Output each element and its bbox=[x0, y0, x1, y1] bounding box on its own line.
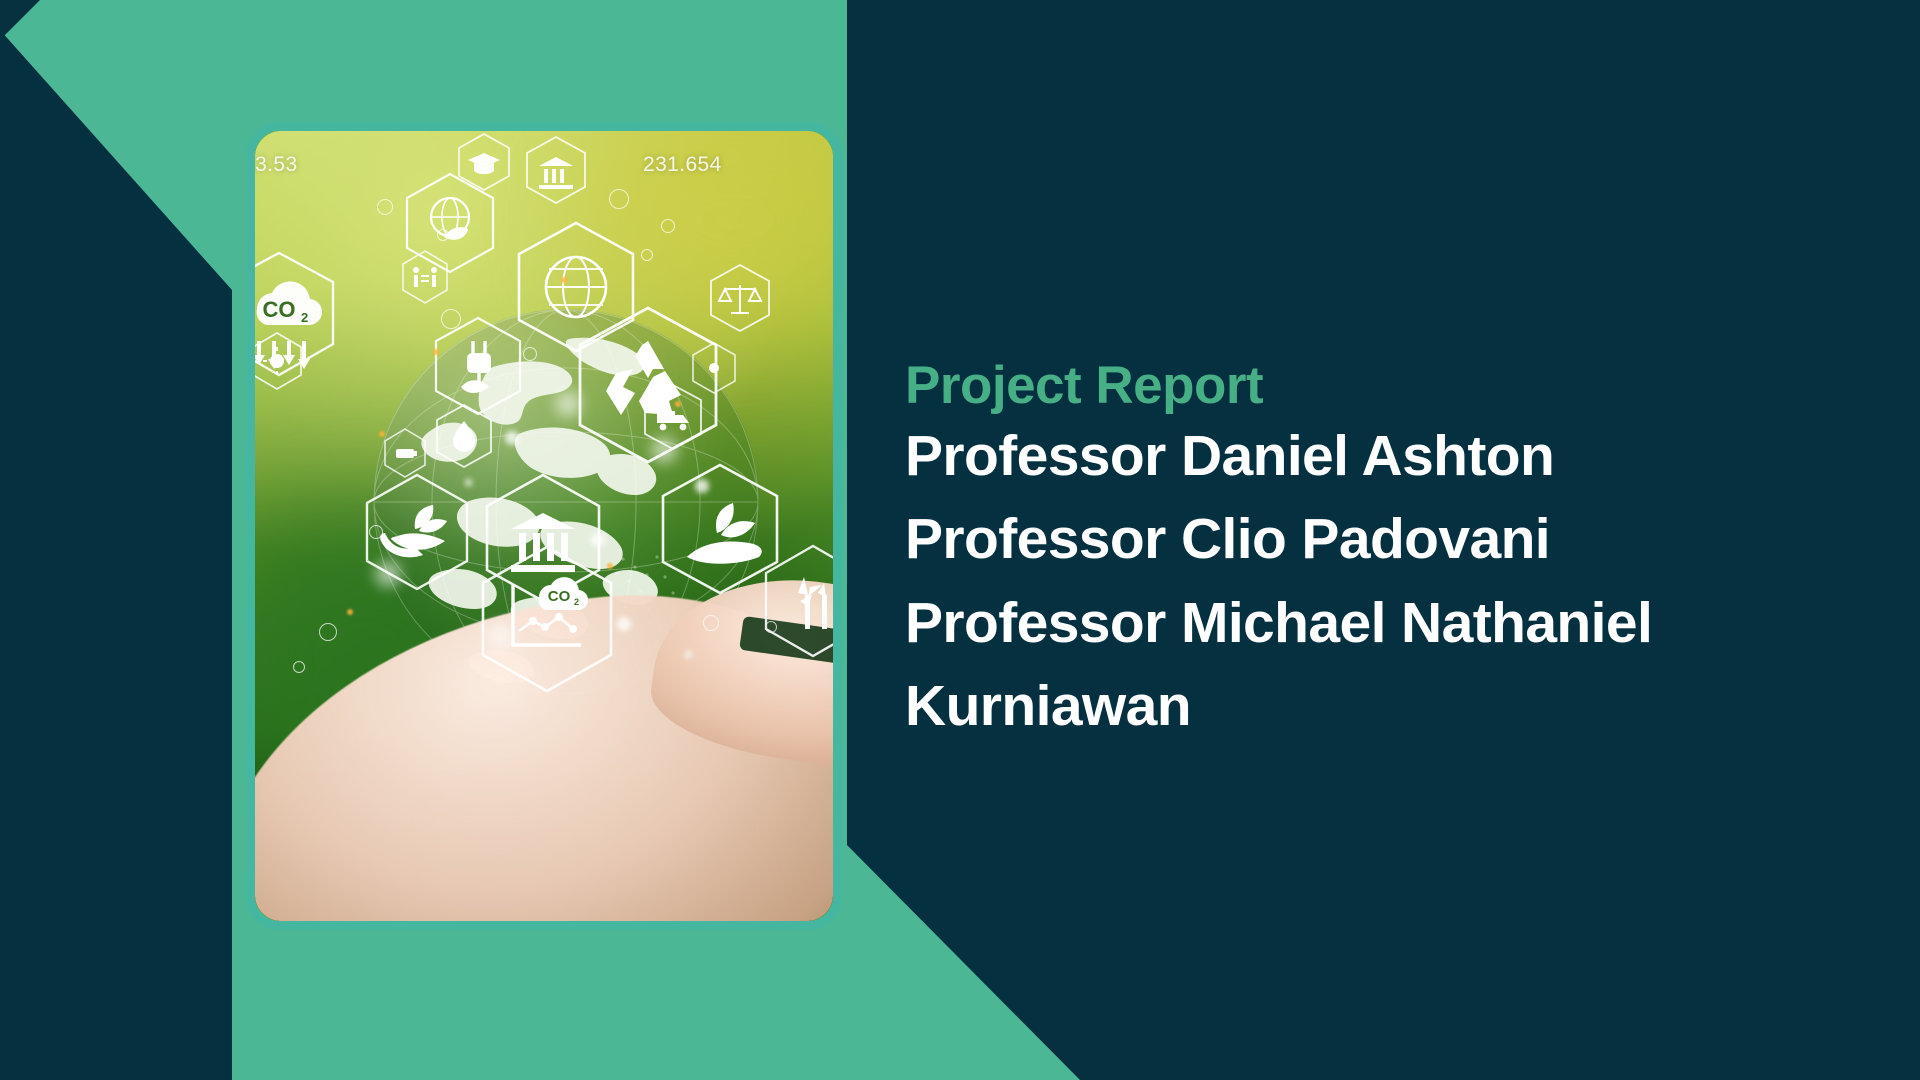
hero-image: CO 2 bbox=[255, 131, 833, 921]
light-flare bbox=[591, 533, 605, 547]
amber-dot bbox=[675, 401, 681, 407]
decor-ring bbox=[319, 623, 337, 641]
slide-canvas: CO 2 bbox=[0, 0, 1920, 1080]
photo-readout-right: 231.654 bbox=[643, 153, 722, 177]
sun-icon-small bbox=[689, 341, 739, 397]
decor-ring bbox=[437, 229, 449, 241]
light-flare bbox=[505, 431, 519, 445]
water-drop-icon bbox=[433, 403, 495, 471]
decor-ring bbox=[641, 249, 653, 261]
light-flare bbox=[695, 479, 709, 493]
author-name-1: Professor Daniel Ashton bbox=[905, 415, 1835, 498]
people-equality-icon bbox=[399, 249, 451, 307]
svg-text:CO: CO bbox=[548, 588, 571, 605]
light-flare bbox=[685, 651, 692, 658]
title-block: Project Report Professor Daniel Ashton P… bbox=[905, 358, 1835, 748]
report-label: Project Report bbox=[905, 358, 1835, 413]
decor-ring bbox=[523, 347, 537, 361]
light-flare bbox=[465, 479, 472, 486]
hero-image-card: CO 2 bbox=[246, 122, 842, 930]
amber-dot bbox=[379, 431, 385, 437]
decor-ring bbox=[609, 189, 629, 209]
decor-ring bbox=[369, 525, 383, 539]
scales-of-justice-icon bbox=[707, 263, 773, 335]
wind-turbine-icon bbox=[760, 543, 833, 659]
battery-icon bbox=[381, 427, 429, 481]
author-name-2: Professor Clio Padovani bbox=[905, 498, 1835, 581]
amber-dot bbox=[607, 563, 613, 569]
sun-icon bbox=[255, 331, 305, 393]
decor-ring bbox=[703, 615, 719, 631]
decor-ring bbox=[377, 199, 393, 215]
amber-dot bbox=[347, 609, 353, 615]
light-flare bbox=[487, 623, 513, 649]
decor-ring bbox=[293, 661, 305, 673]
decor-ring bbox=[441, 309, 461, 329]
bank-icon-small bbox=[523, 135, 589, 207]
plug-leaf-icon bbox=[431, 315, 525, 417]
decor-ring bbox=[765, 621, 777, 633]
graduation-cap-icon bbox=[455, 131, 513, 195]
amber-dot bbox=[433, 349, 439, 355]
light-flare bbox=[555, 391, 581, 417]
co2-chart-icon: CO 2 bbox=[477, 543, 617, 695]
light-flare bbox=[617, 617, 631, 631]
light-flare bbox=[541, 601, 548, 608]
author-name-3: Professor Michael Nathaniel Kurniawan bbox=[905, 582, 1835, 748]
decor-ring bbox=[661, 219, 675, 233]
svg-text:CO: CO bbox=[263, 297, 296, 322]
amber-dot bbox=[561, 277, 567, 283]
light-flare bbox=[375, 561, 401, 587]
svg-text:2: 2 bbox=[301, 310, 308, 325]
svg-text:2: 2 bbox=[574, 597, 579, 607]
light-flare bbox=[651, 437, 677, 463]
photo-readout-left: 23.53 bbox=[255, 153, 298, 177]
